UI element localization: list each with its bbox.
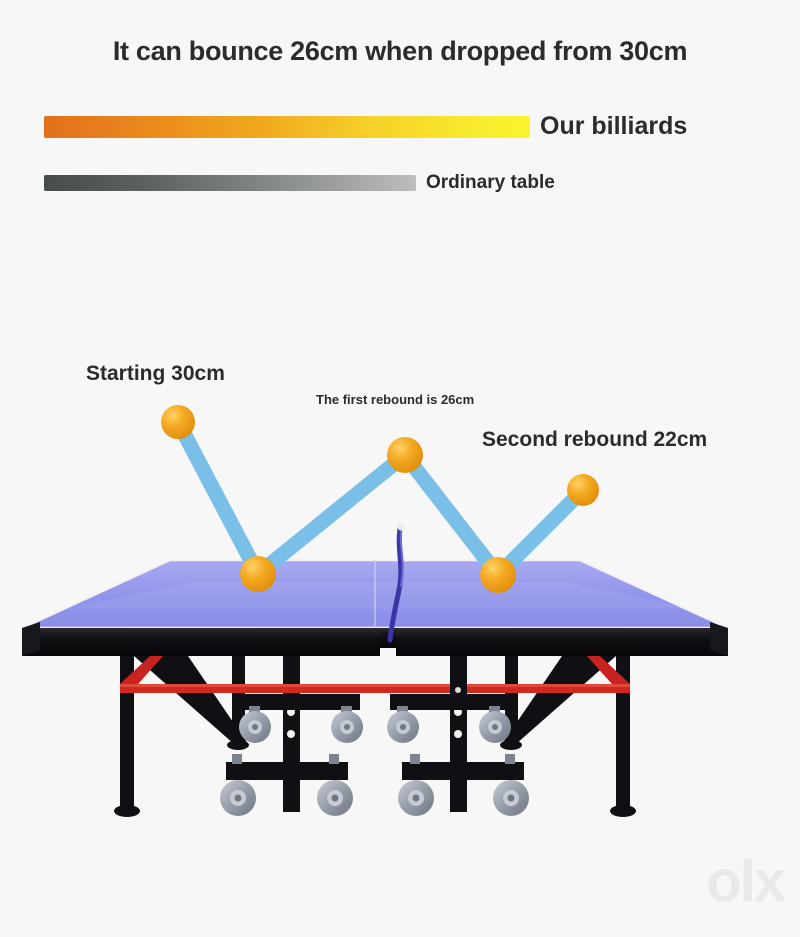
table-front-rail-right bbox=[396, 628, 728, 656]
post-hole-right-2 bbox=[454, 730, 462, 738]
post-hole-left-2 bbox=[287, 730, 295, 738]
caster-right-upper-a bbox=[387, 706, 419, 743]
foot-pad-outer-right bbox=[610, 805, 636, 817]
red-cross-rail-right-highlight bbox=[230, 684, 630, 687]
table-tennis-table-illustration bbox=[0, 0, 800, 937]
table-surface-group bbox=[22, 560, 728, 628]
lower-caster-beam-left bbox=[226, 762, 348, 780]
net-post-top bbox=[398, 524, 405, 531]
foot-pad-outer-left bbox=[114, 805, 140, 817]
table-front-rail-left bbox=[22, 628, 380, 656]
product-infographic: It can bounce 26cm when dropped from 30c… bbox=[0, 0, 800, 937]
post-bolt-right bbox=[455, 687, 461, 693]
lower-caster-beam-right bbox=[402, 762, 524, 780]
olx-watermark: olx bbox=[706, 848, 784, 915]
caster-left-upper-b bbox=[331, 706, 363, 743]
